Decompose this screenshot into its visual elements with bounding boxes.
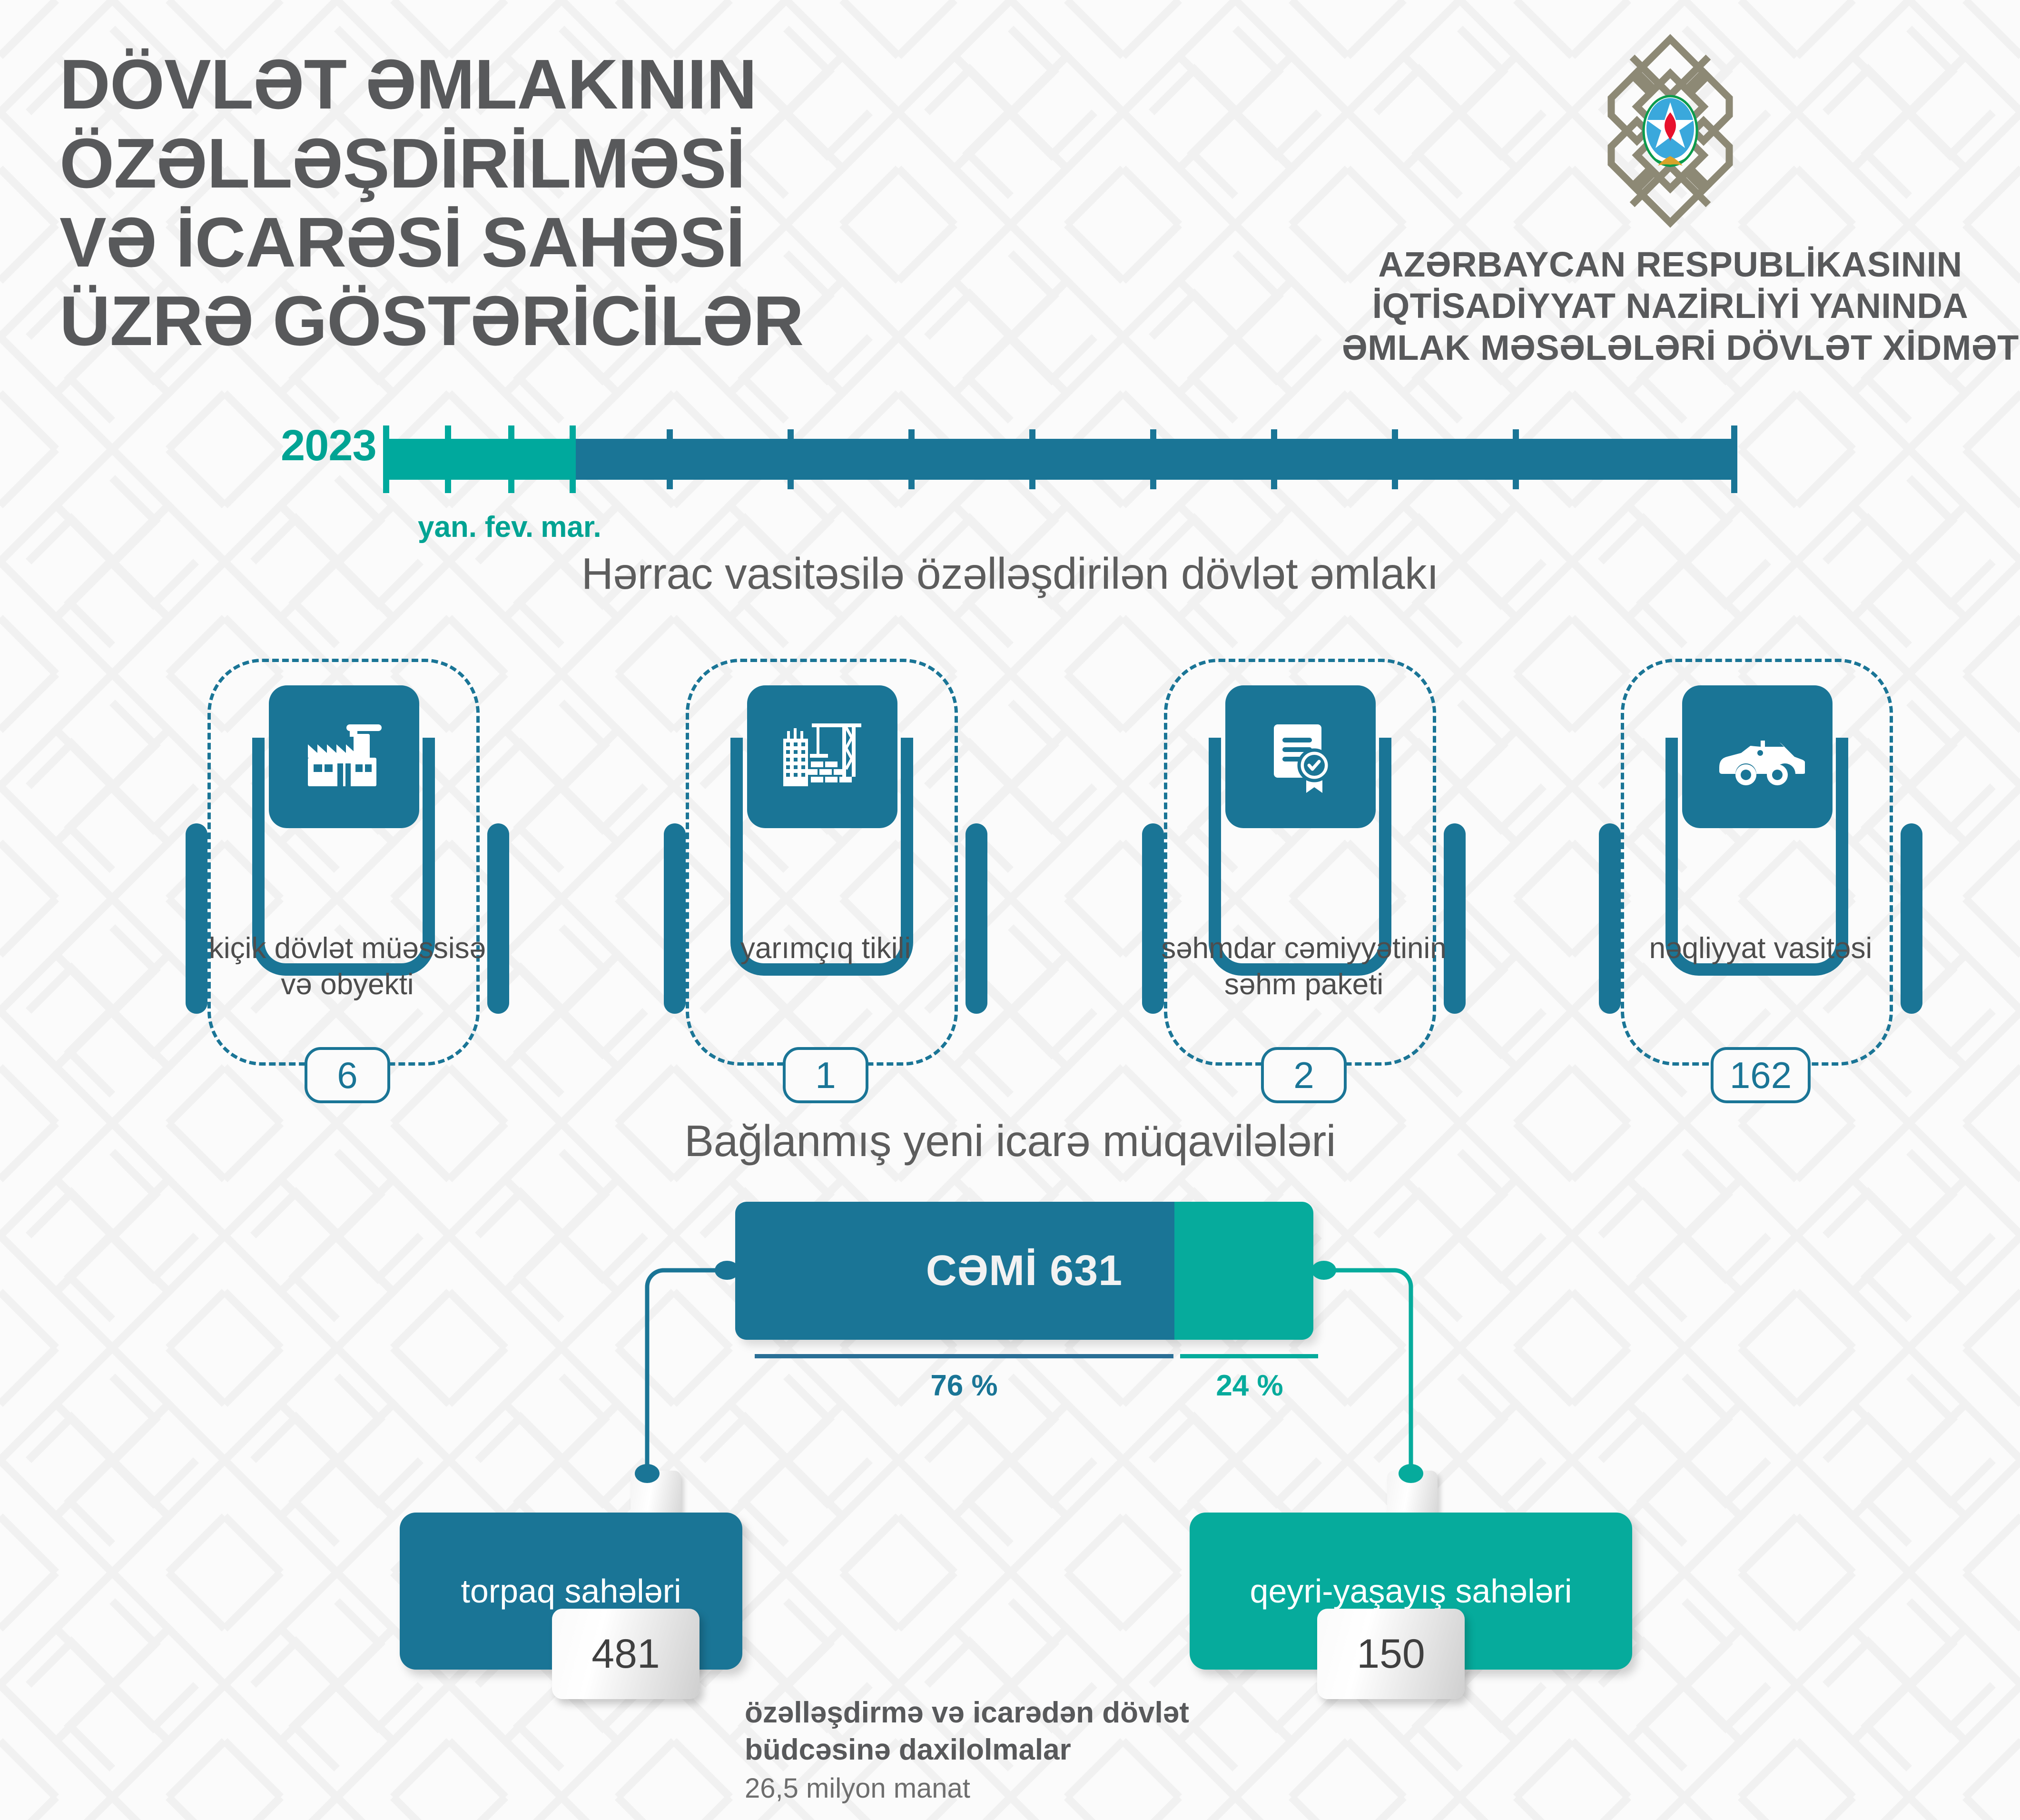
connector-land — [647, 1270, 723, 1468]
connector-dot-pill-left — [635, 1464, 660, 1483]
connector-dot-bar-right — [1311, 1261, 1336, 1280]
connector-lines — [0, 0, 2020, 1820]
connector-nonresidential — [1328, 1270, 1411, 1468]
connector-dot-pill-right — [1399, 1464, 1423, 1483]
lease-total-label: CƏMİ 631 — [735, 1202, 1313, 1340]
